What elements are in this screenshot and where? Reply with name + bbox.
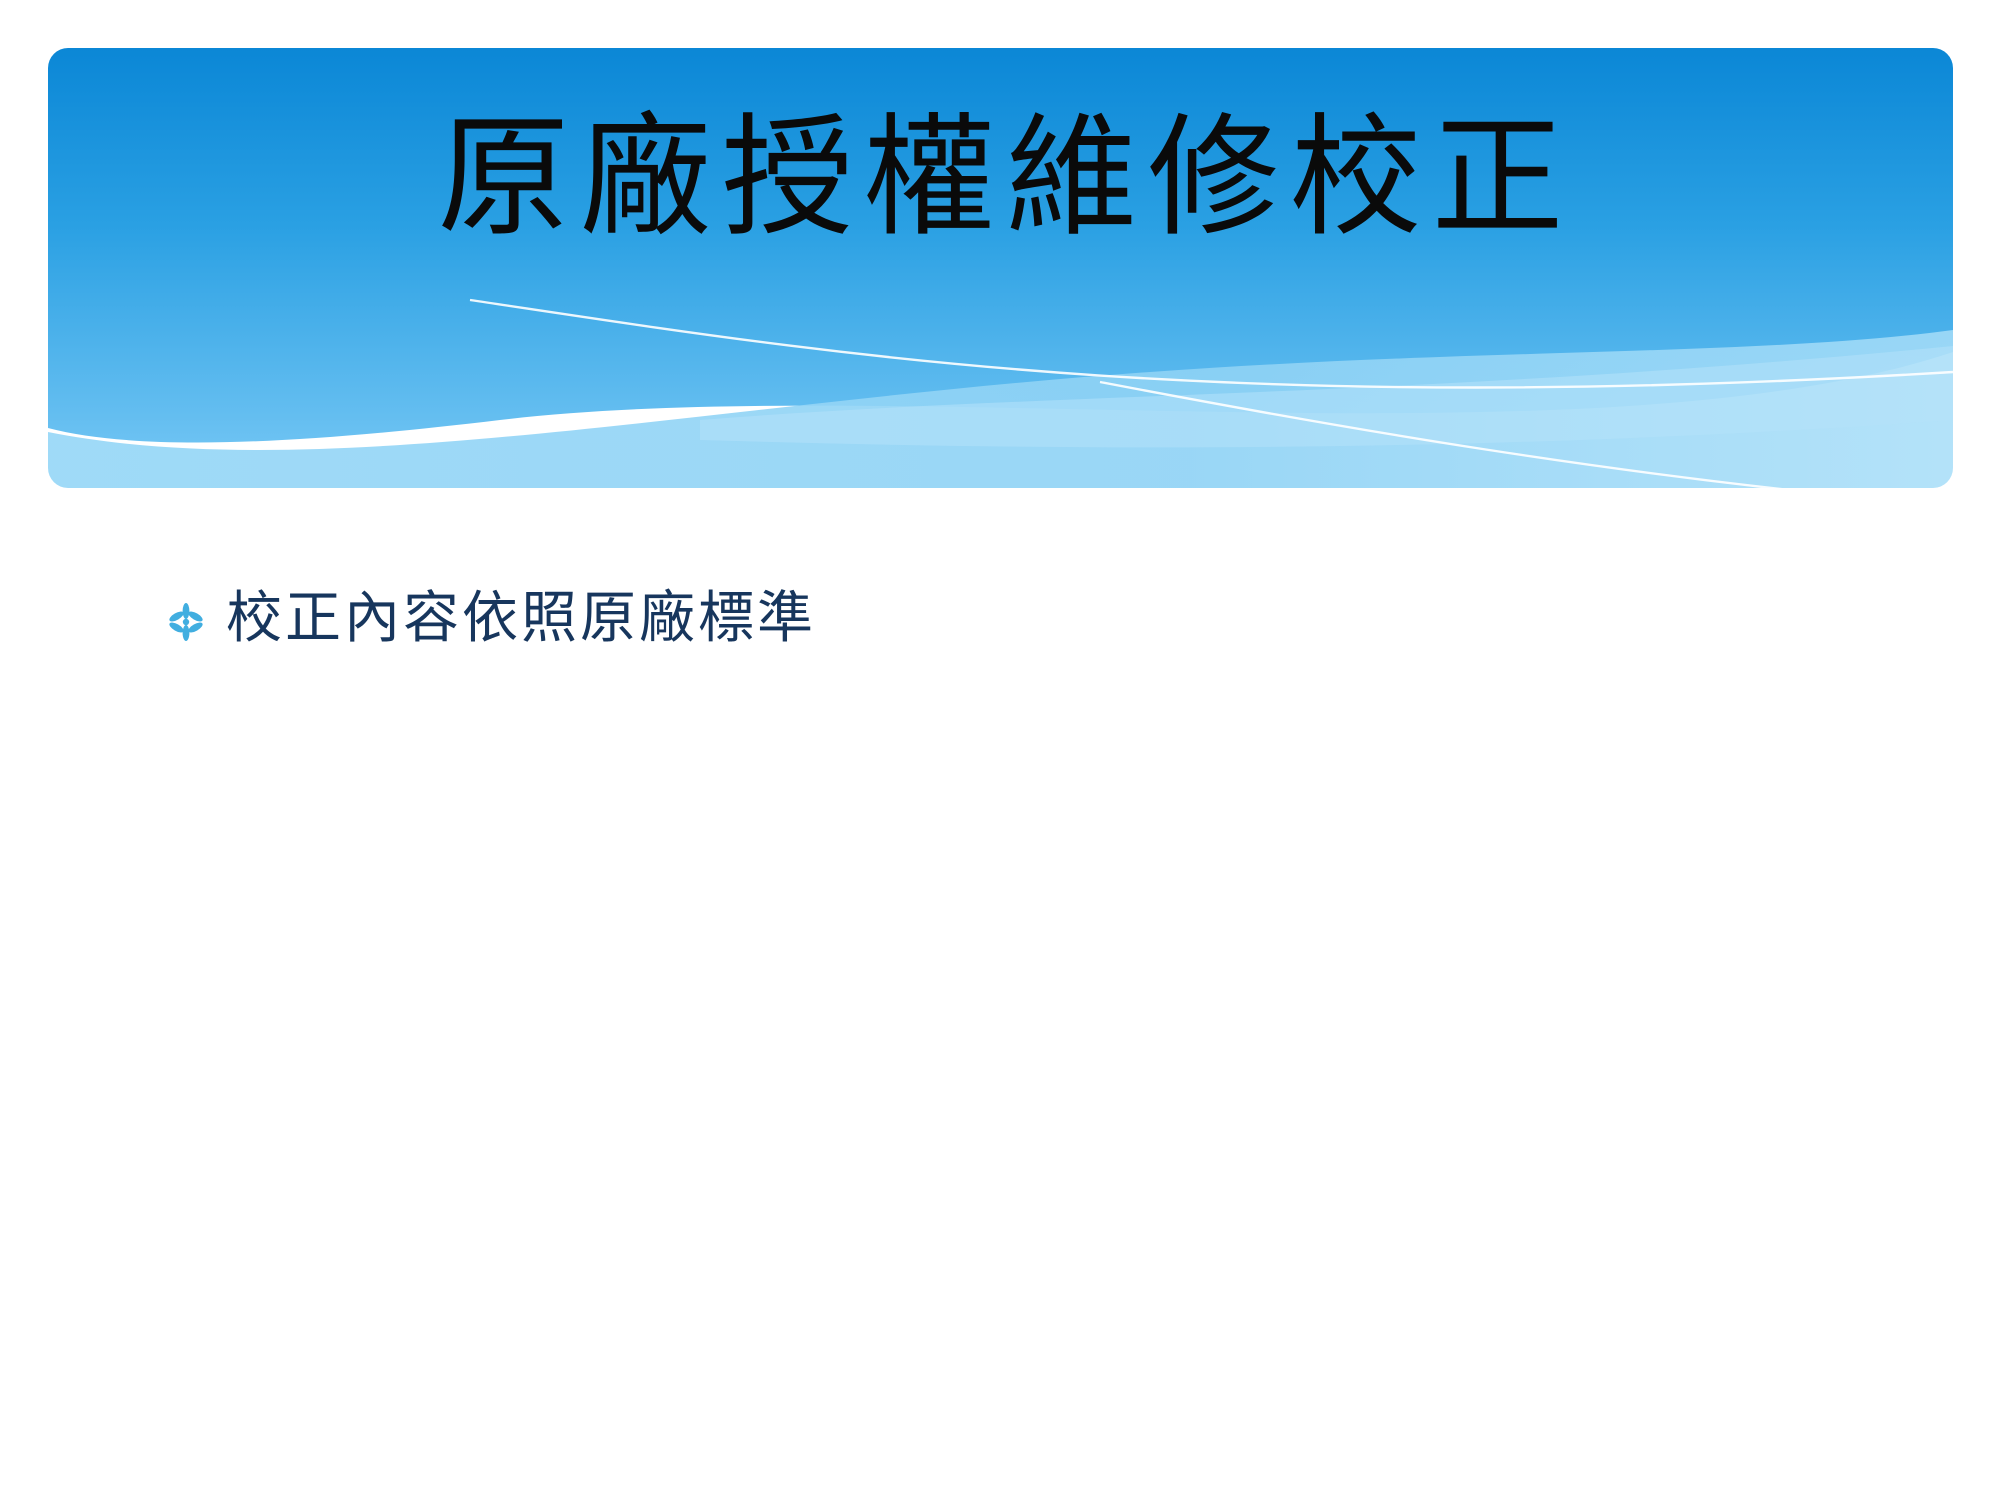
presentation-slide: 原廠授權維修校正 校正內容依照原廠標準: [0, 0, 2000, 1500]
banner-thin-line-rising: [470, 300, 1953, 388]
title-placeholder[interactable]: 原廠授權維修校正: [48, 48, 1953, 308]
list-item[interactable]: 校正內容依照原廠標準: [160, 588, 1860, 651]
banner-thin-line-falling: [1100, 382, 1953, 506]
content-placeholder[interactable]: 校正內容依照原廠標準: [160, 588, 1860, 677]
banner-wave-light: [48, 330, 1953, 488]
banner-wave-soft: [700, 346, 1953, 447]
page-title: 原廠授權維修校正: [428, 109, 1574, 248]
asterisk-bullet-icon: [160, 588, 216, 650]
list-item-label: 校正內容依照原廠標準: [226, 588, 816, 651]
